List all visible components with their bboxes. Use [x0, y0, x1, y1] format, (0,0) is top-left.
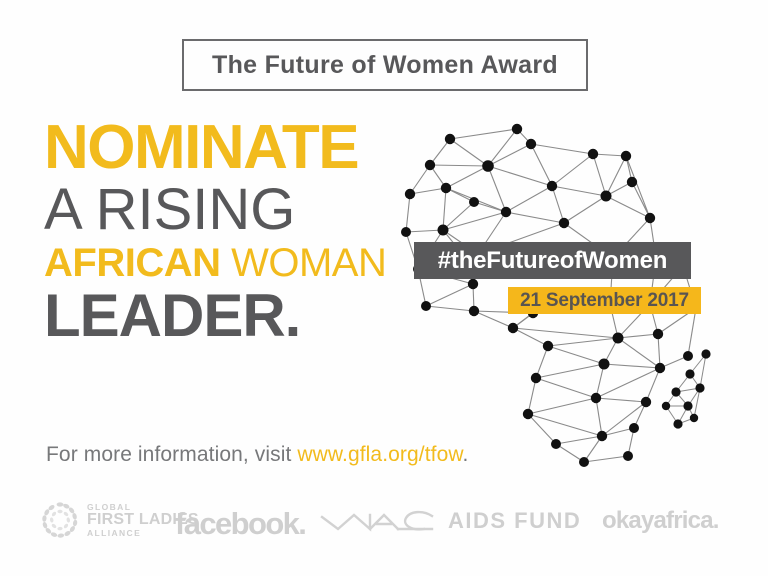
wreath-icon [40, 500, 80, 540]
poster-canvas: The Future of Women Award [0, 0, 768, 576]
hashtag-banner: #theFutureofWomen [414, 242, 691, 279]
okayafrica-wordmark: okayafrica. [602, 507, 719, 535]
info-prefix-text: For more information, visit [46, 443, 297, 466]
headline-word-woman: WOMAN [220, 241, 386, 285]
sponsor-logo-row: GLOBAL FIRST LADIES ALLIANCE facebook. A… [0, 496, 768, 552]
sponsor-logo-okayafrica: okayafrica. [602, 507, 719, 535]
award-title-text: The Future of Women Award [212, 51, 558, 80]
headline-line-nominate: NOMINATE [44, 118, 404, 178]
sponsor-logo-mac-aids-fund: AIDS FUND [320, 508, 581, 534]
facebook-wordmark: facebook. [175, 506, 305, 542]
date-text: 21 September 2017 [520, 290, 689, 312]
award-title-box: The Future of Women Award [182, 39, 588, 91]
more-information-line: For more information, visit www.gfla.org… [46, 443, 468, 467]
sponsor-logo-facebook: facebook. [175, 506, 305, 542]
mac-wordmark-icon [320, 508, 438, 534]
headline-word-african: AFRICAN [44, 241, 220, 285]
headline-block: NOMINATE A RISING AFRICAN WOMAN LEADER. [44, 118, 404, 345]
headline-line-a-rising: A RISING [44, 182, 404, 238]
date-banner: 21 September 2017 [508, 287, 701, 314]
info-suffix-text: . [462, 443, 468, 466]
hashtag-text: #theFutureofWomen [438, 247, 668, 275]
headline-line-leader: LEADER. [44, 287, 404, 345]
mac-aids-fund-text: AIDS FUND [448, 508, 581, 534]
gfla-website-link[interactable]: www.gfla.org/tfow [297, 443, 462, 466]
headline-line-african-woman: AFRICAN WOMAN [44, 244, 404, 283]
madagascar-nodes [662, 349, 711, 428]
